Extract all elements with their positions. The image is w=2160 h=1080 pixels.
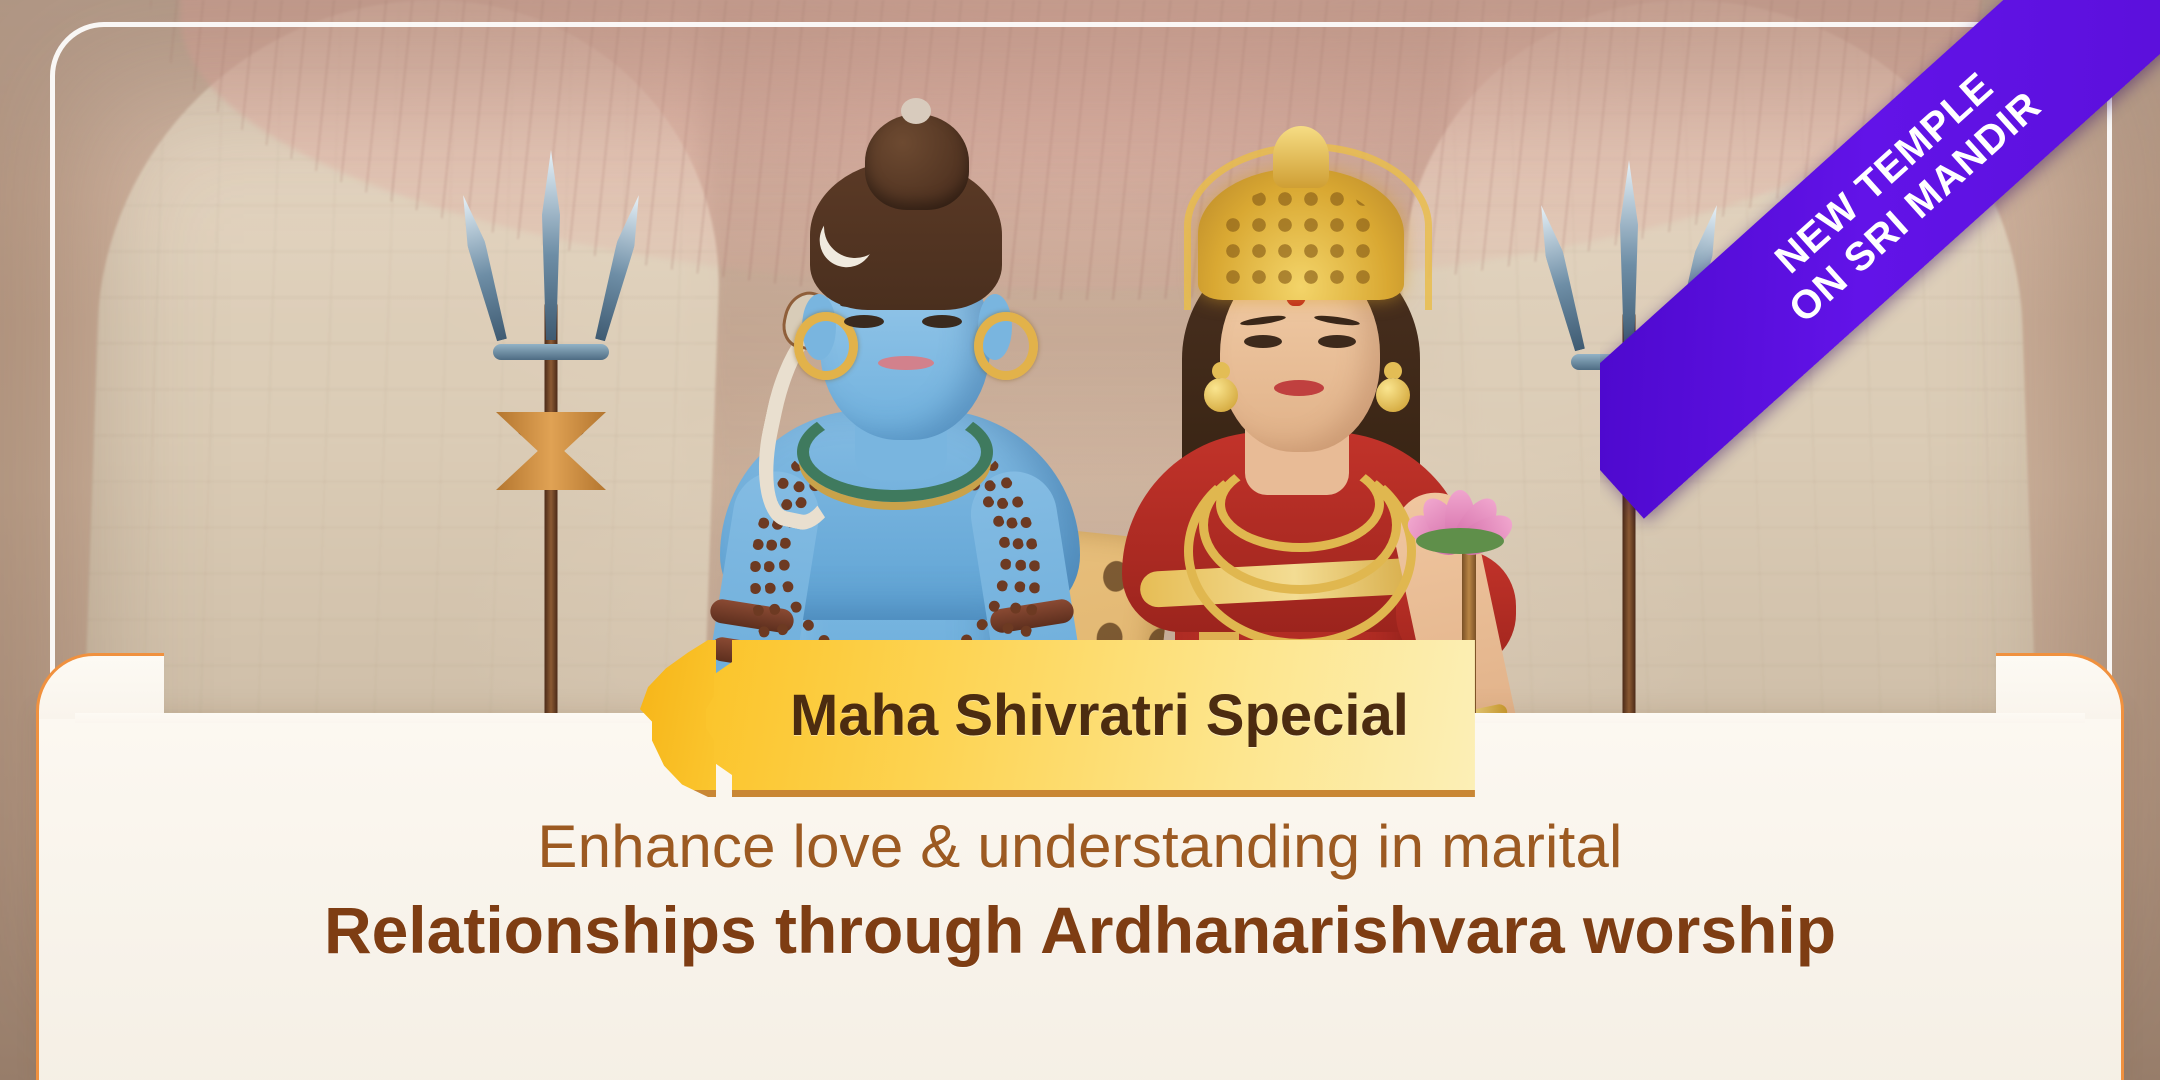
banner-stage: NEW TEMPLE ON SRI MANDIR Enhance love & … [0,0,2160,1080]
trishul-left-crossbar [493,344,609,360]
card-corner-step-right [1996,653,2124,719]
lotus-icon [1412,468,1508,548]
headline-line-1: Enhance love & understanding in marital [99,813,2061,880]
parvati-earring-left [1204,378,1238,412]
card-corner-step-left-inner [36,653,164,719]
parvati-crown-icon [1198,168,1404,300]
parvati-earring-right [1376,378,1410,412]
special-badge-label: Maha Shivratri Special [790,682,1409,749]
ribbon-line-2: ON SRI MANDIR [1600,0,2160,499]
special-badge[interactable]: Maha Shivratri Special [706,640,1475,797]
trishul-left-head [491,150,611,340]
parvati-lips [1274,380,1324,396]
prong-left [1532,203,1588,353]
lotus-leaf [1416,528,1504,554]
headline-line-2: Relationships through Ardhanarishvara wo… [99,894,2061,968]
parvati-eye-right [1318,335,1356,348]
prong-center [542,150,560,340]
prong-right [591,193,647,343]
shiva-eye-left [844,315,884,328]
shiva-eye-right [922,315,962,328]
shiva-lips [878,356,934,370]
card-text-block: Enhance love & understanding in marital … [39,813,2121,968]
shiva-jata-bun [865,114,969,210]
corner-ribbon[interactable]: NEW TEMPLE ON SRI MANDIR [1600,0,2160,560]
shiva-earring-right [974,312,1038,380]
card-corner-step-left [36,653,164,719]
parvati-eye-left [1244,335,1282,348]
card-corner-step-right-inner [1996,653,2124,719]
ribbon-band: NEW TEMPLE ON SRI MANDIR [1600,0,2160,519]
